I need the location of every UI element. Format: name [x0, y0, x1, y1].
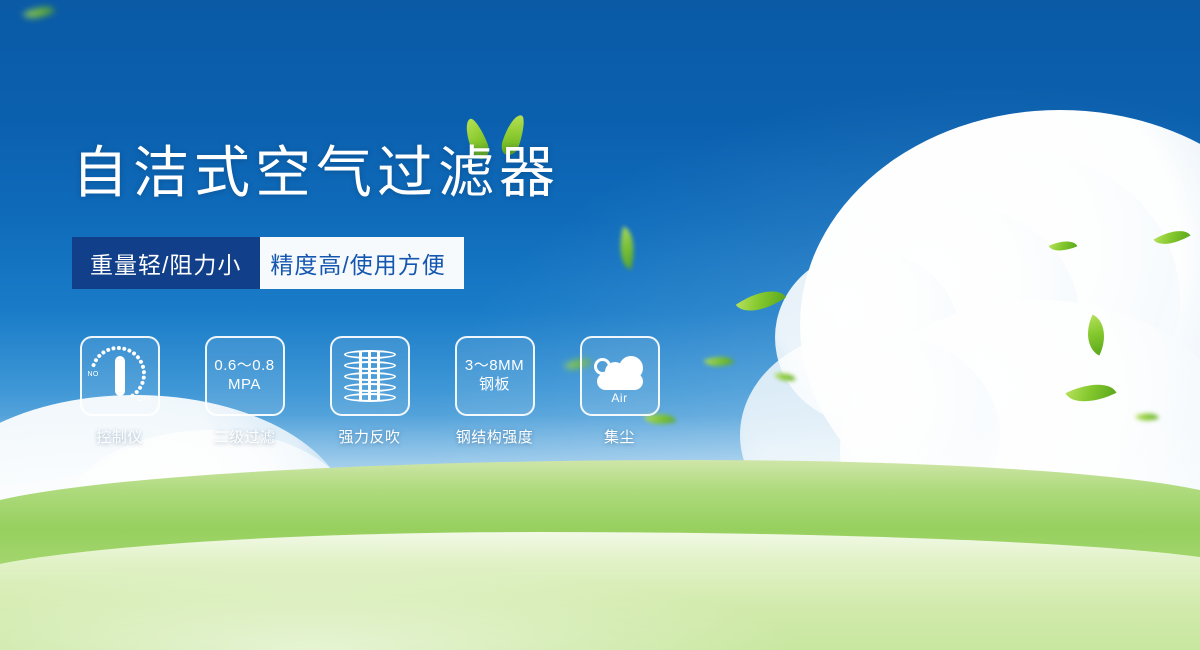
- cloud-shape: [830, 205, 1080, 435]
- feature-icon-text-line2: MPA: [214, 376, 274, 395]
- gauge-label-off: OFF: [138, 396, 153, 403]
- feature-item-pressure[interactable]: 0.6～0.8 MPA 二级过滤: [197, 336, 292, 447]
- subtitle-right: 精度高/使用方便: [260, 237, 463, 289]
- feature-icon-text-line1: 0.6～0.8: [214, 357, 274, 374]
- subtitle-left: 重量轻/阻力小: [72, 237, 261, 289]
- leaf-icon: [774, 370, 795, 383]
- feature-icon-box: [330, 336, 410, 416]
- feature-item-control[interactable]: NO OFF 控制仪: [72, 336, 167, 447]
- leaf-icon: [1049, 235, 1078, 257]
- leaf-icon: [704, 351, 735, 373]
- leaf-icon: [1154, 223, 1191, 253]
- feature-label: 钢结构强度: [456, 426, 534, 447]
- feature-icon-box: NO OFF: [80, 336, 160, 416]
- cloud-shape: [775, 250, 960, 425]
- gauge-icon: NO OFF: [89, 347, 151, 405]
- subtitle-bar: 重量轻/阻力小 精度高/使用方便: [72, 237, 462, 289]
- feature-item-dust[interactable]: Air 集尘: [572, 336, 667, 447]
- leaf-icon: [613, 226, 640, 269]
- leaf-icon: [1135, 409, 1159, 425]
- feature-list: NO OFF 控制仪 0.6～0.8 MPA 二级过滤: [72, 336, 667, 447]
- leaf-icon: [736, 279, 786, 323]
- feature-label: 强力反吹: [338, 426, 400, 447]
- leaf-icon: [1066, 373, 1117, 413]
- feature-label: 控制仪: [96, 426, 143, 447]
- feature-label: 集尘: [604, 426, 635, 447]
- leaf-icon: [1078, 314, 1114, 355]
- cloud-shape: [850, 150, 1180, 450]
- grass-field-near: [0, 532, 1200, 650]
- feature-icon-box: 0.6～0.8 MPA: [205, 336, 285, 416]
- page-title: 自洁式空气过滤器: [72, 143, 560, 202]
- gauge-needle: [115, 356, 125, 396]
- promo-banner: 自洁式空气过滤器 重量轻/阻力小 精度高/使用方便: [0, 0, 1200, 650]
- feature-icon-text-line1: 3～8MM: [465, 357, 524, 374]
- gauge-label-on: NO: [88, 371, 99, 378]
- cloud-air-icon: Air: [591, 350, 649, 402]
- leaf-icon: [23, 0, 56, 25]
- filter-stack-icon: [343, 348, 397, 404]
- feature-icon-box: 3～8MM 钢板: [455, 336, 535, 416]
- air-text: Air: [591, 391, 649, 405]
- feature-icon-box: Air: [580, 336, 660, 416]
- feature-item-steel[interactable]: 3～8MM 钢板 钢结构强度: [447, 336, 542, 447]
- feature-label: 二级过滤: [213, 426, 275, 447]
- feature-item-blowback[interactable]: 强力反吹: [322, 336, 417, 447]
- feature-icon-text-line2: 钢板: [465, 376, 524, 395]
